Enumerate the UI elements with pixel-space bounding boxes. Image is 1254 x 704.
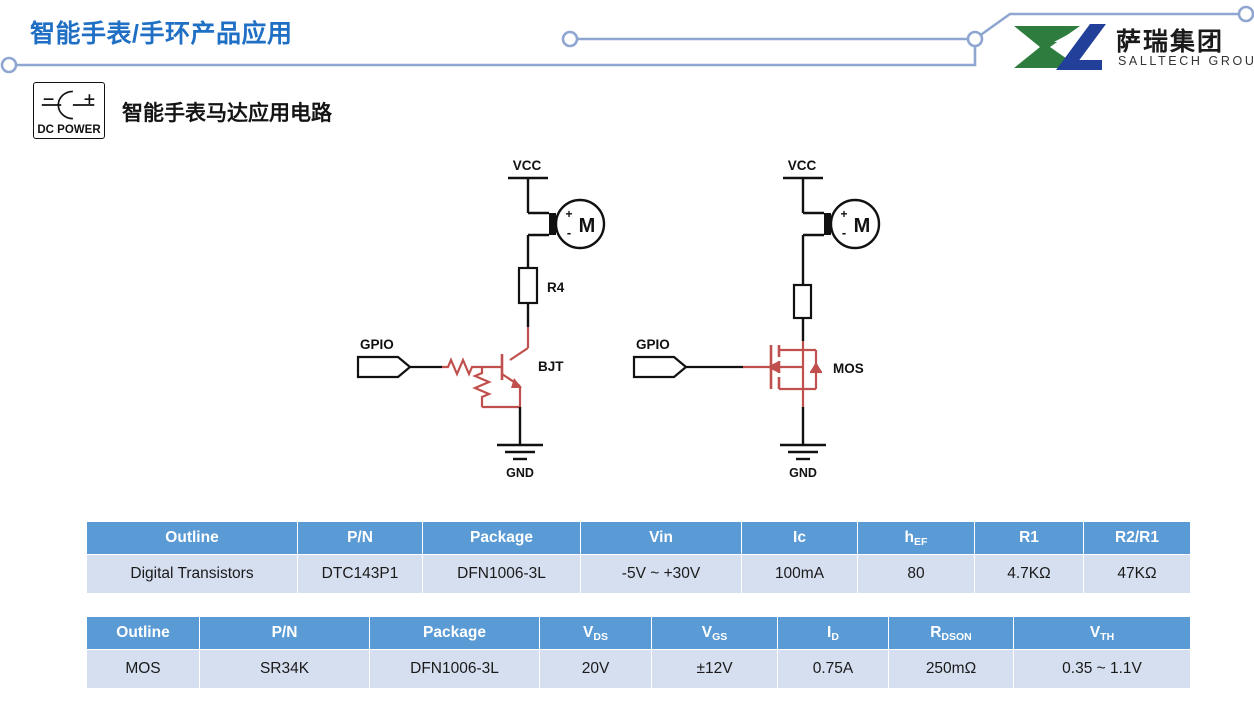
table-cell-5: 80 [858, 555, 975, 594]
bjt-r2-zigzag [475, 367, 489, 407]
deco-circle-middle [563, 32, 577, 46]
column-header-text: Ic [793, 529, 806, 546]
bjt-vcc-label: VCC [513, 158, 542, 173]
bjt-motor-minus: - [567, 225, 571, 240]
mos-table-head: OutlineP/NPackageVDSVGSIDRDSONVTH [87, 617, 1191, 650]
section-title: 智能手表马达应用电路 [122, 97, 332, 127]
column-header-subscript: GS [712, 631, 727, 643]
table-cell-2: DFN1006-3L [370, 650, 540, 689]
bjt-gpio-label: GPIO [360, 337, 394, 352]
column-header-text: R [930, 624, 941, 641]
mos-device-label: MOS [833, 361, 864, 376]
column-header-text: Vin [649, 529, 673, 546]
table-cell-4: ±12V [652, 650, 778, 689]
column-header-text: Outline [116, 624, 169, 641]
mos-vcc-label: VCC [788, 158, 817, 173]
dc-power-icon: DC POWER [33, 82, 105, 139]
bjt-circuit: VCC + - M R4 [358, 158, 604, 480]
table-cell-7: 0.35 ~ 1.1V [1014, 650, 1191, 689]
bjt-resistor-label: R4 [547, 280, 565, 295]
bjt-resistor-r4 [519, 268, 537, 303]
bjt-spec-table: OutlineP/NPackageVinIchEFR1R2/R1 Digital… [86, 521, 1191, 594]
mos-gpio-flag [634, 357, 686, 377]
bjt-gpio-flag [358, 357, 410, 377]
table-cell-5: 0.75A [778, 650, 889, 689]
column-header-subscript: D [831, 631, 839, 643]
column-header-6: R1 [975, 522, 1084, 555]
column-header-text: R2/R1 [1115, 529, 1159, 546]
column-header-1: P/N [298, 522, 423, 555]
brand-name-cn: 萨瑞集团 [1116, 22, 1224, 58]
column-header-text: Package [423, 624, 486, 641]
brand-name-en: SALLTECH GROUP [1118, 54, 1254, 68]
column-header-text: Outline [165, 529, 218, 546]
page-title: 智能手表/手环产品应用 [30, 14, 292, 50]
table-cell-0: MOS [87, 650, 200, 689]
mos-diode-triangle [810, 362, 822, 372]
deco-circle-right [1239, 7, 1253, 21]
table-cell-3: -5V ~ +30V [581, 555, 742, 594]
column-header-subscript: DS [593, 631, 608, 643]
column-header-text: P/N [347, 529, 373, 546]
column-header-text: V [583, 624, 593, 641]
bjt-device-label: BJT [538, 359, 564, 374]
bjt-table-body: Digital TransistorsDTC143P1DFN1006-3L-5V… [87, 555, 1191, 594]
column-header-5: ID [778, 617, 889, 650]
mos-motor-plus: + [840, 207, 847, 221]
slide-root: 智能手表/手环产品应用 萨瑞集团 SALLTECH GROUP DC POWER… [0, 0, 1254, 704]
table-cell-0: Digital Transistors [87, 555, 298, 594]
dc-power-symbol [34, 85, 104, 125]
column-header-4: Ic [742, 522, 858, 555]
column-header-text: R1 [1019, 529, 1039, 546]
column-header-text: P/N [272, 624, 298, 641]
table-cell-4: 100mA [742, 555, 858, 594]
table-row: MOSSR34KDFN1006-3L20V±12V0.75A250mΩ0.35 … [87, 650, 1191, 689]
dc-power-label: DC POWER [34, 124, 104, 136]
column-header-subscript: DSON [941, 631, 971, 643]
column-header-subscript: TH [1100, 631, 1114, 643]
column-header-2: Package [423, 522, 581, 555]
deco-circle-left [2, 58, 16, 72]
salltech-logo-icon [1010, 22, 1108, 72]
mos-bulk-arrow [767, 361, 779, 373]
column-header-text: V [1090, 624, 1100, 641]
bjt-table-head: OutlineP/NPackageVinIchEFR1R2/R1 [87, 522, 1191, 555]
table-row: Digital TransistorsDTC143P1DFN1006-3L-5V… [87, 555, 1191, 594]
column-header-4: VGS [652, 617, 778, 650]
mos-motor-minus: - [842, 225, 846, 240]
table-cell-7: 47KΩ [1084, 555, 1191, 594]
mos-spec-table: OutlineP/NPackageVDSVGSIDRDSONVTH MOSSR3… [86, 616, 1191, 689]
mos-ground-symbol [780, 445, 826, 459]
mos-gnd-label: GND [789, 466, 817, 480]
circuit-diagrams: VCC + - M R4 [330, 145, 950, 505]
table-header-row: OutlineP/NPackageVDSVGSIDRDSONVTH [87, 617, 1191, 650]
brand-logo: 萨瑞集团 SALLTECH GROUP [1010, 22, 1248, 72]
column-header-7: R2/R1 [1084, 522, 1191, 555]
bjt-emitter-arrow [511, 378, 522, 388]
column-header-text: V [702, 624, 712, 641]
column-header-2: Package [370, 617, 540, 650]
bjt-collector-slant [510, 348, 528, 360]
column-header-7: VTH [1014, 617, 1191, 650]
column-header-3: VDS [540, 617, 652, 650]
column-header-text: h [905, 529, 914, 546]
logo-blue-foot [1072, 60, 1102, 70]
column-header-5: hEF [858, 522, 975, 555]
bjt-motor-plus: + [565, 207, 572, 221]
table-cell-1: SR34K [200, 650, 370, 689]
mos-motor-label: M [854, 215, 871, 237]
mos-resistor [794, 285, 811, 318]
bjt-motor-label: M [579, 215, 596, 237]
column-header-1: P/N [200, 617, 370, 650]
dcp-plus [85, 94, 95, 104]
column-header-subscript: EF [914, 536, 927, 548]
column-header-0: Outline [87, 617, 200, 650]
bjt-ground-symbol [497, 445, 543, 459]
column-header-text: Package [470, 529, 533, 546]
column-header-0: Outline [87, 522, 298, 555]
bjt-r1-zigzag [442, 360, 477, 374]
table-header-row: OutlineP/NPackageVinIchEFR1R2/R1 [87, 522, 1191, 555]
deco-circle-junction [968, 32, 982, 46]
mos-gpio-label: GPIO [636, 337, 670, 352]
bjt-gnd-label: GND [506, 466, 534, 480]
column-header-3: Vin [581, 522, 742, 555]
table-cell-6: 250mΩ [889, 650, 1014, 689]
table-cell-1: DTC143P1 [298, 555, 423, 594]
table-cell-2: DFN1006-3L [423, 555, 581, 594]
mos-table-body: MOSSR34KDFN1006-3L20V±12V0.75A250mΩ0.35 … [87, 650, 1191, 689]
table-cell-3: 20V [540, 650, 652, 689]
column-header-6: RDSON [889, 617, 1014, 650]
table-cell-6: 4.7KΩ [975, 555, 1084, 594]
bjt-transistor-symbol [442, 327, 528, 407]
mos-circuit: VCC + - M [634, 158, 879, 480]
